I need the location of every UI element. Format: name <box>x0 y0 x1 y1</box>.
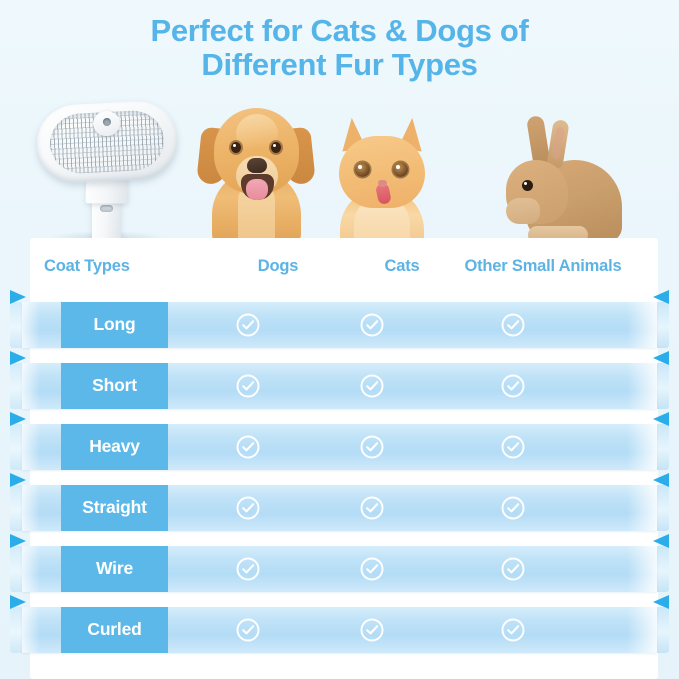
coat-type-row[interactable]: Short <box>0 351 679 409</box>
check-circle-icon <box>235 373 261 399</box>
check-circle-icon <box>235 495 261 521</box>
coat-type-row[interactable]: Heavy <box>0 412 679 470</box>
cell-other-small-animals <box>396 485 630 531</box>
coat-type-chip: Curled <box>61 607 168 653</box>
ribbon-banner: Wire <box>22 546 657 592</box>
coat-type-label: Short <box>92 377 137 395</box>
cell-other-small-animals <box>396 546 630 592</box>
coat-type-chip: Straight <box>61 485 168 531</box>
hero-photo-strip: White self-cleaning slicker pet brush Go… <box>0 92 679 244</box>
pet-grooming-brush-image: White self-cleaning slicker pet brush <box>30 97 185 244</box>
cell-other-small-animals <box>396 424 630 470</box>
check-circle-icon <box>235 617 261 643</box>
check-circle-icon <box>500 556 526 582</box>
ribbon-banner: Heavy <box>22 424 657 470</box>
coat-type-row[interactable]: Straight <box>0 473 679 531</box>
column-header-other-small-animals: Other Small Animals <box>426 248 660 284</box>
cell-other-small-animals <box>396 363 630 409</box>
ribbon-banner: Short <box>22 363 657 409</box>
cell-other-small-animals <box>396 607 630 653</box>
coat-type-label: Straight <box>82 499 147 517</box>
coat-type-row[interactable]: Wire <box>0 534 679 592</box>
rabbit-caption: Tan rabbit sitting in profile <box>500 114 501 115</box>
coat-type-rows: LongShortHeavyStraightWireCurled <box>0 290 679 670</box>
rabbit-eye <box>522 180 533 191</box>
check-circle-icon <box>235 556 261 582</box>
dog-head <box>214 108 299 194</box>
ribbon-banner: Curled <box>22 607 657 653</box>
infographic-page: Perfect for Cats & Dogs of Different Fur… <box>0 0 679 679</box>
ribbon-banner: Long <box>22 302 657 348</box>
coat-type-label: Wire <box>96 560 133 578</box>
coat-type-label: Heavy <box>89 438 140 456</box>
rabbit-image: Tan rabbit sitting in profile <box>500 114 630 244</box>
coat-type-label: Long <box>94 316 136 334</box>
check-circle-icon <box>235 312 261 338</box>
coat-type-chip: Wire <box>61 546 168 592</box>
coat-type-row[interactable]: Curled <box>0 595 679 653</box>
check-circle-icon <box>359 312 385 338</box>
table-header-row: Coat Types Dogs Cats Other Small Animals <box>30 248 658 284</box>
page-title-line-2: Different Fur Types <box>0 48 679 82</box>
brush-caption: White self-cleaning slicker pet brush <box>30 97 31 98</box>
coat-type-label: Curled <box>87 621 141 639</box>
cat-image: Orange tabby kitten licking its nose <box>330 116 434 244</box>
check-circle-icon <box>500 312 526 338</box>
check-circle-icon <box>359 373 385 399</box>
dog-caption: Golden Retriever with open mouth and ton… <box>196 92 197 93</box>
dog-image: Golden Retriever with open mouth and ton… <box>196 92 316 244</box>
check-circle-icon <box>500 434 526 460</box>
coat-type-chip: Long <box>61 302 168 348</box>
check-circle-icon <box>359 617 385 643</box>
cell-other-small-animals <box>396 302 630 348</box>
cat-head <box>339 136 425 208</box>
coat-type-chip: Short <box>61 363 168 409</box>
ribbon-banner: Straight <box>22 485 657 531</box>
rabbit-snout <box>506 198 540 224</box>
cat-caption: Orange tabby kitten licking its nose <box>330 116 331 117</box>
cat-eye-left <box>355 162 370 177</box>
column-header-coat-types: Coat Types <box>44 248 130 284</box>
check-circle-icon <box>500 617 526 643</box>
check-circle-icon <box>359 434 385 460</box>
check-circle-icon <box>235 434 261 460</box>
cat-nose <box>378 180 387 187</box>
brush-button <box>100 205 113 212</box>
check-circle-icon <box>500 495 526 521</box>
check-circle-icon <box>359 556 385 582</box>
brush-head <box>35 99 179 184</box>
page-title-line-1: Perfect for Cats & Dogs of <box>0 14 679 48</box>
check-circle-icon <box>359 495 385 521</box>
coat-type-row[interactable]: Long <box>0 290 679 348</box>
coat-type-chip: Heavy <box>61 424 168 470</box>
check-circle-icon <box>500 373 526 399</box>
dog-eye-left <box>231 142 241 153</box>
page-title: Perfect for Cats & Dogs of Different Fur… <box>0 14 679 82</box>
dog-eye-right <box>271 142 281 153</box>
dog-nose <box>247 158 267 173</box>
cat-eye-right <box>393 162 408 177</box>
dog-tongue <box>246 179 268 200</box>
